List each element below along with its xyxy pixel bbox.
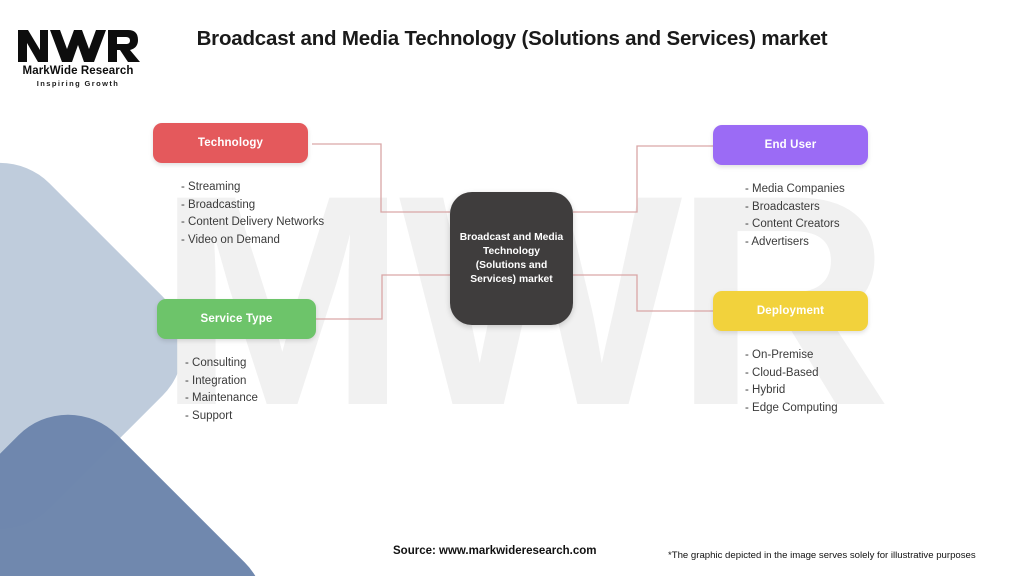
list-item: - Content Delivery Networks <box>181 214 308 232</box>
node-end-user[interactable]: End User - Media Companies - Broadcaster… <box>713 125 868 251</box>
list-item: - Consulting <box>185 355 316 373</box>
list-item: - Streaming <box>181 179 308 197</box>
node-deployment-label: Deployment <box>757 305 824 317</box>
node-technology[interactable]: Technology - Streaming - Broadcasting - … <box>153 123 308 249</box>
slide-canvas: MWR MarkWide Research Inspiring Growth B… <box>0 0 1024 576</box>
node-end-user-header[interactable]: End User <box>713 125 868 165</box>
source-label: Source: www.markwideresearch.com <box>393 545 596 557</box>
node-service-type[interactable]: Service Type - Consulting - Integration … <box>157 299 316 425</box>
list-item: - Broadcasters <box>745 199 868 217</box>
connector-service-type-to-center <box>316 275 450 319</box>
center-node-label: Broadcast and Media Technology (Solution… <box>450 231 573 287</box>
node-service-type-header[interactable]: Service Type <box>157 299 316 339</box>
node-technology-items: - Streaming - Broadcasting - Content Del… <box>153 179 308 249</box>
node-deployment-items: - On-Premise - Cloud-Based - Hybrid - Ed… <box>713 347 868 417</box>
disclaimer-label: *The graphic depicted in the image serve… <box>668 550 976 561</box>
list-item: - Cloud-Based <box>745 365 868 383</box>
list-item: - Hybrid <box>745 382 868 400</box>
list-item: - Video on Demand <box>181 232 308 250</box>
node-service-type-label: Service Type <box>201 313 273 325</box>
connector-technology-to-center <box>312 144 450 212</box>
node-technology-header[interactable]: Technology <box>153 123 308 163</box>
list-item: - Maintenance <box>185 390 316 408</box>
list-item: - Content Creators <box>745 216 868 234</box>
node-end-user-label: End User <box>765 139 817 151</box>
center-node[interactable]: Broadcast and Media Technology (Solution… <box>450 192 573 325</box>
list-item: - Integration <box>185 373 316 391</box>
node-service-type-items: - Consulting - Integration - Maintenance… <box>157 355 316 425</box>
node-deployment-header[interactable]: Deployment <box>713 291 868 331</box>
connector-center-to-end-user <box>573 146 713 212</box>
list-item: - Support <box>185 408 316 426</box>
connector-center-to-deployment <box>573 275 713 311</box>
node-technology-label: Technology <box>198 137 263 149</box>
node-end-user-items: - Media Companies - Broadcasters - Conte… <box>713 181 868 251</box>
list-item: - Advertisers <box>745 234 868 252</box>
list-item: - Media Companies <box>745 181 868 199</box>
list-item: - Broadcasting <box>181 197 308 215</box>
list-item: - On-Premise <box>745 347 868 365</box>
list-item: - Edge Computing <box>745 400 868 418</box>
node-deployment[interactable]: Deployment - On-Premise - Cloud-Based - … <box>713 291 868 417</box>
